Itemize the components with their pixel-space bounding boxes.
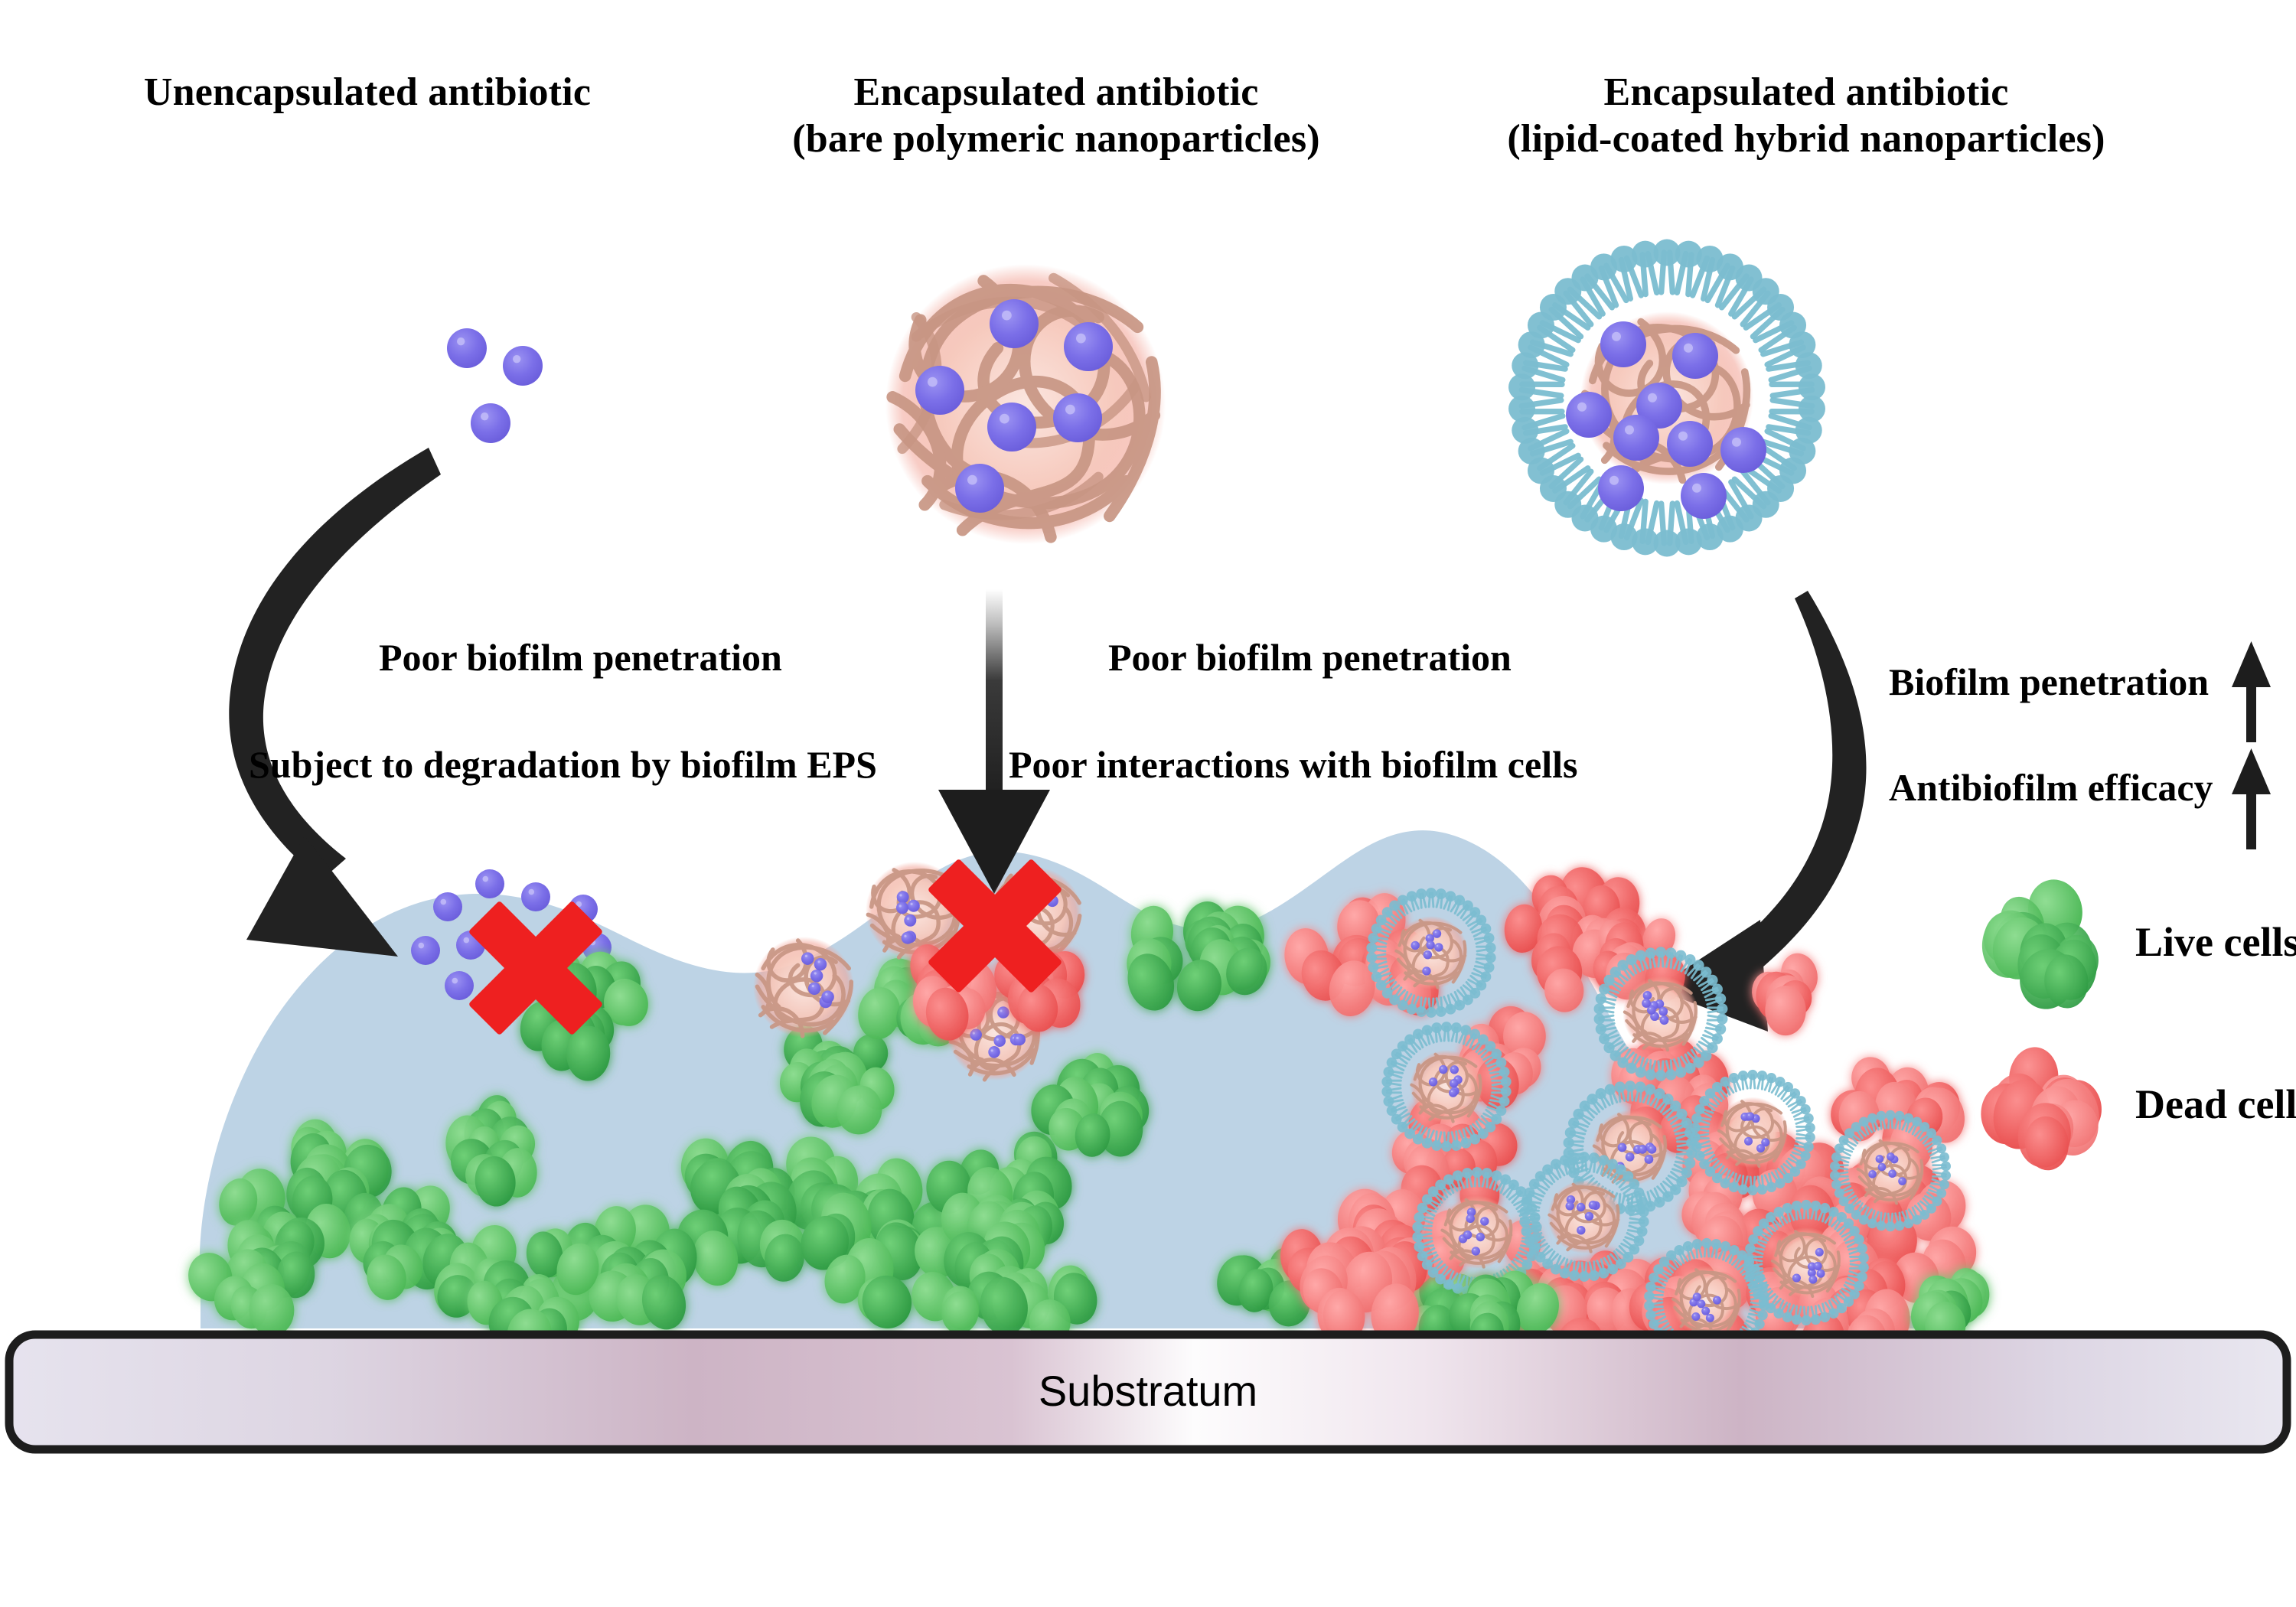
annotation-middle-penetration: Poor biofilm penetration (1108, 635, 1512, 680)
annotation-right-penetration: Biofilm penetration (1889, 660, 2209, 704)
legend-label-dead-cells: Dead cells (2135, 1081, 2296, 1128)
up-arrow-antibiofilm-efficacy (2232, 748, 2271, 849)
up-arrow-biofilm-penetration (2232, 641, 2271, 742)
legend-label-live-cells: Live cells (2135, 918, 2296, 966)
annotation-middle-interactions: Poor interactions with biofilm cells (1009, 742, 1577, 787)
legend-live-cells-icon (1978, 875, 2101, 1015)
lipid-coated-hybrid-nanoparticle (1508, 240, 1825, 557)
legend-dead-cells-icon (1981, 1045, 2107, 1172)
figure-canvas: Unencapsulated antibiotic Encapsulated a… (0, 0, 2296, 1607)
annotation-right-efficacy: Antibiofilm efficacy (1889, 765, 2213, 810)
arrow-left-curved (229, 448, 441, 957)
bare-polymeric-nanoparticle (885, 264, 1166, 544)
substratum-label: Substratum (0, 1366, 2296, 1416)
annotation-left-degradation: Subject to degradation by biofilm EPS (249, 742, 877, 787)
arrow-middle-straight (938, 589, 1050, 894)
unencapsulated-antibiotic-group (447, 328, 543, 443)
annotation-left-penetration: Poor biofilm penetration (379, 635, 782, 680)
